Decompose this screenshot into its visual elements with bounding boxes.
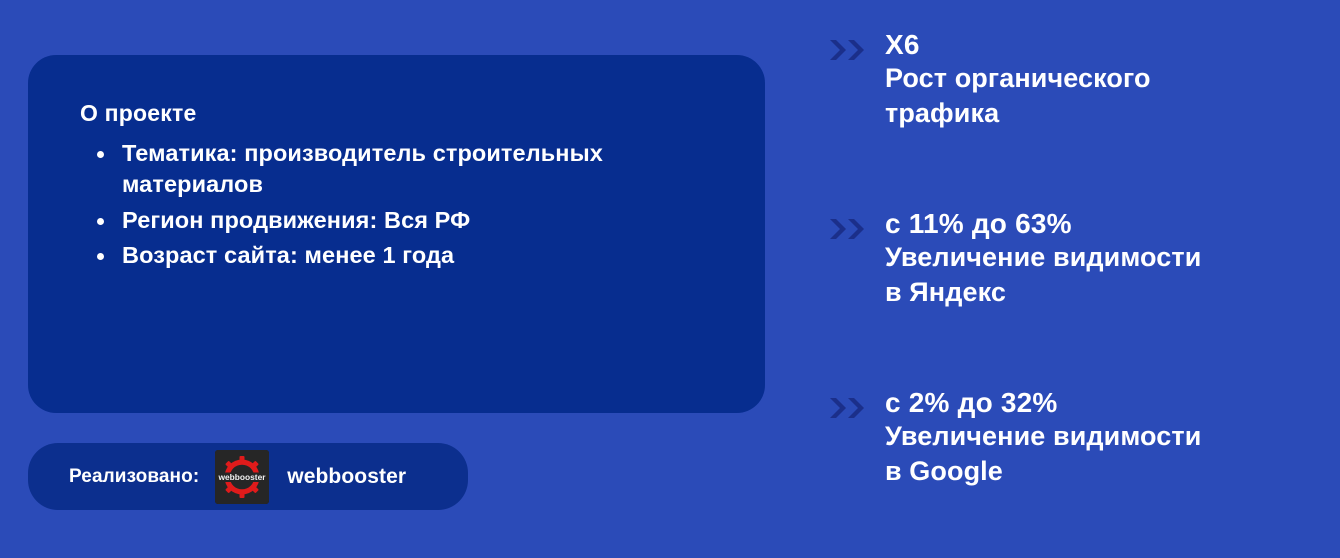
left-column: О проекте Тематика: производитель строит…: [0, 0, 800, 558]
stat-description-line-2: в Яндекс: [885, 275, 1340, 310]
stat-value: с 2% до 32%: [885, 387, 1058, 418]
about-project-list: Тематика: производитель строительных мат…: [80, 138, 731, 271]
stat-description-line-2: трафика: [885, 96, 1340, 131]
about-project-content: О проекте Тематика: производитель строит…: [80, 100, 731, 275]
stat-text: с 2% до 32% Увеличение видимости в Googl…: [876, 386, 1340, 488]
list-item-label: Тематика: производитель строительных мат…: [122, 140, 603, 197]
bullet-dot-icon: [97, 253, 104, 260]
stat-description-line-2: в Google: [885, 454, 1340, 489]
stat-description-line-1: Увеличение видимости: [885, 240, 1340, 275]
stat-description-line-1: Рост органического: [885, 61, 1340, 96]
stat-block-google-visibility: с 2% до 32% Увеличение видимости в Googl…: [828, 386, 1340, 488]
slide-root: О проекте Тематика: производитель строит…: [0, 0, 1340, 558]
about-project-panel: О проекте Тематика: производитель строит…: [28, 55, 765, 413]
list-item: Возраст сайта: менее 1 года: [80, 240, 731, 271]
list-item-label: Регион продвижения: Вся РФ: [122, 207, 470, 233]
list-item: Тематика: производитель строительных мат…: [80, 138, 731, 201]
stat-value: с 11% до 63%: [885, 208, 1072, 239]
double-chevron-right-icon: [828, 386, 876, 420]
stat-value: X6: [885, 29, 920, 60]
list-item: Регион продвижения: Вся РФ: [80, 205, 731, 236]
double-chevron-right-icon: [828, 28, 876, 62]
about-project-title: О проекте: [80, 100, 731, 127]
right-column-stats: X6 Рост органического трафика с 11% до 6…: [800, 0, 1340, 558]
stat-block-yandex-visibility: с 11% до 63% Увеличение видимости в Янде…: [828, 207, 1340, 309]
credit-label: Реализовано:: [69, 466, 199, 488]
credit-badge: Реализовано:: [28, 443, 468, 510]
stat-text: с 11% до 63% Увеличение видимости в Янде…: [876, 207, 1340, 309]
stat-block-organic-traffic: X6 Рост органического трафика: [828, 28, 1340, 130]
list-item-label: Возраст сайта: менее 1 года: [122, 242, 454, 268]
double-chevron-right-icon: [828, 207, 876, 241]
bullet-dot-icon: [97, 151, 104, 158]
credit-brand-name: webbooster: [287, 465, 406, 489]
stat-description-line-1: Увеличение видимости: [885, 419, 1340, 454]
bullet-dot-icon: [97, 218, 104, 225]
logo-wordmark: webbooster: [218, 472, 267, 482]
stat-text: X6 Рост органического трафика: [876, 28, 1340, 130]
webbooster-gear-logo-icon: webbooster: [215, 450, 269, 504]
